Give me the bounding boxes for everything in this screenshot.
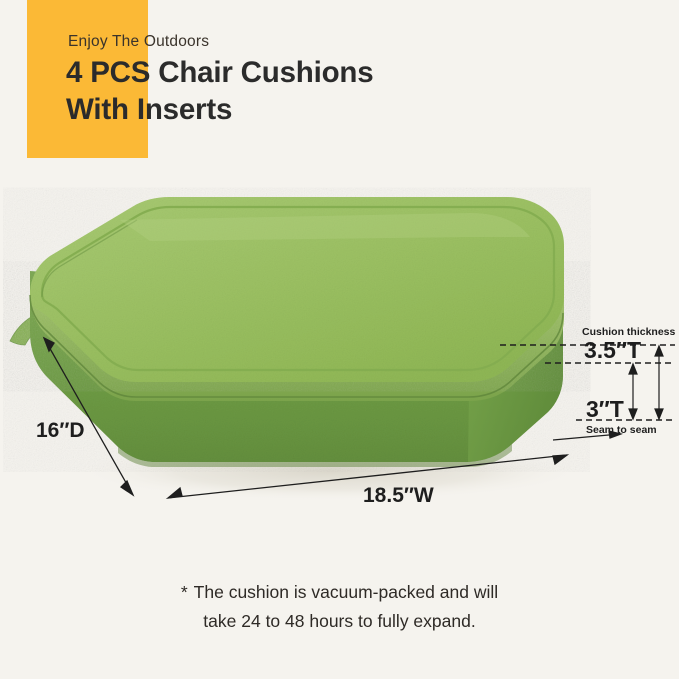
seam-caption: Seam to seam	[586, 424, 657, 436]
headline-line-1: 4 PCS Chair Cushions	[66, 56, 373, 89]
footnote: *The cushion is vacuum-packed and will t…	[0, 578, 679, 636]
cushion-illustration	[0, 175, 679, 535]
eyebrow-text: Enjoy The Outdoors	[68, 33, 209, 51]
thickness-measure-arrow	[655, 346, 663, 419]
thickness-label: 3.5″T	[584, 337, 641, 364]
headline-line-2: With Inserts	[66, 91, 373, 128]
width-label: 18.5″W	[363, 484, 434, 508]
footnote-asterisk: *	[181, 582, 188, 602]
page-title: 4 PCS Chair Cushions With Inserts	[66, 54, 373, 128]
seam-measure-arrow	[629, 364, 637, 419]
footnote-line-1: The cushion is vacuum-packed and will	[194, 582, 498, 602]
footnote-line-2: take 24 to 48 hours to fully expand.	[0, 607, 679, 636]
seam-label: 3″T	[586, 396, 624, 423]
product-image-canvas: Enjoy The Outdoors 4 PCS Chair Cushions …	[0, 0, 679, 679]
depth-label: 16″D	[36, 419, 85, 443]
product-photo	[0, 175, 679, 535]
